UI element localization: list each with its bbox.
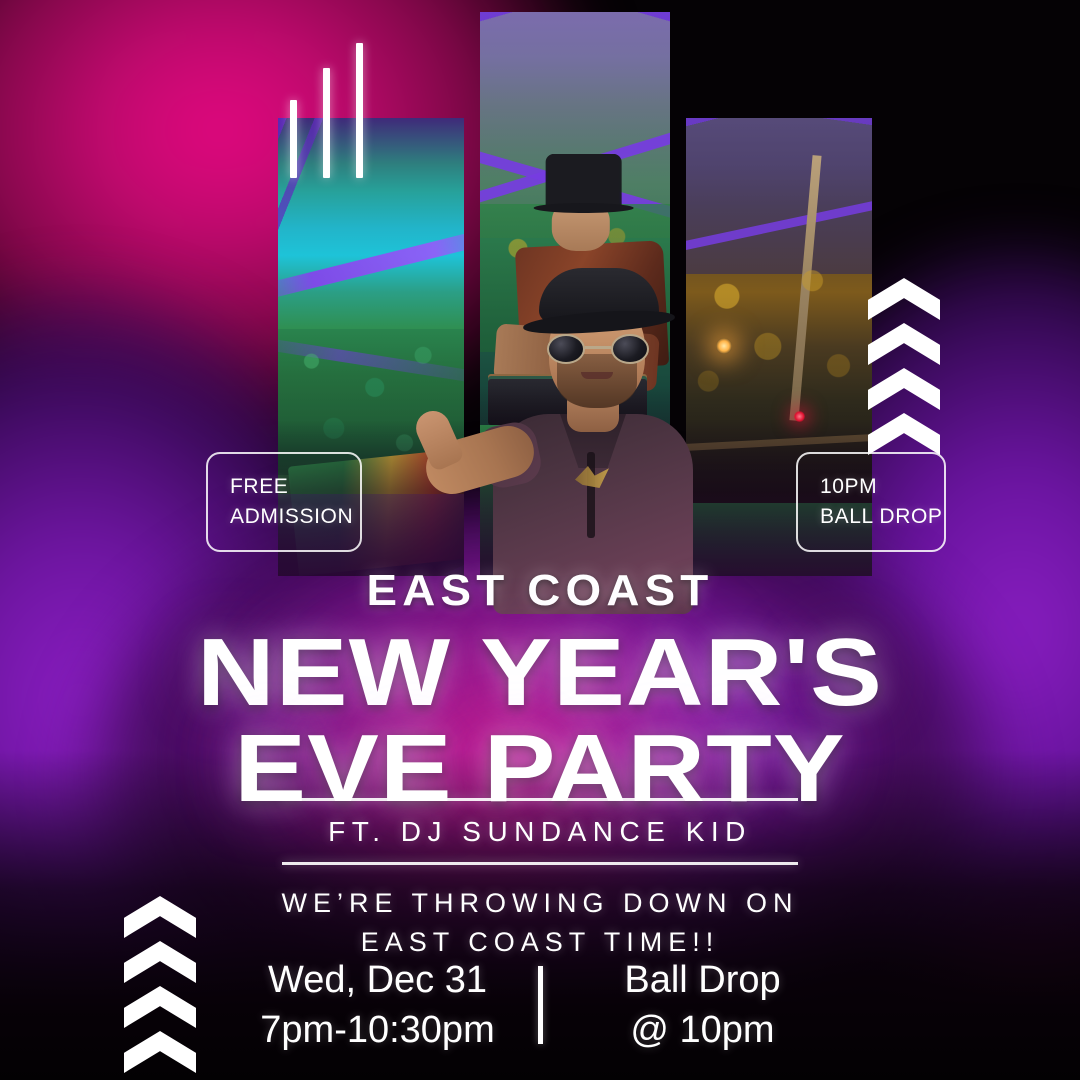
chevron-up-icon — [868, 323, 940, 365]
details-time: 7pm-10:30pm — [228, 1005, 528, 1055]
person-placket — [587, 452, 595, 538]
badge-free-line2: ADMISSION — [230, 502, 338, 532]
sunglass-lens-left — [547, 334, 585, 364]
featuring-artist: FT. DJ SUNDANCE KID — [282, 801, 798, 862]
chevron-up-icon — [868, 278, 940, 320]
tagline-block: WE’RE THROWING DOWN ON EAST COAST TIME!! — [0, 884, 1080, 962]
vertical-bars-decoration — [290, 38, 380, 178]
badge-ball-drop: 10PM BALL DROP — [796, 452, 946, 552]
event-title-line1: NEW YEAR'S — [0, 628, 1080, 718]
featuring-block: FT. DJ SUNDANCE KID — [282, 798, 798, 865]
details-balldrop-label: Ball Drop — [553, 955, 853, 1005]
details-divider — [538, 966, 543, 1044]
badge-ball-line2: BALL DROP — [820, 502, 922, 532]
vertical-bar — [356, 43, 363, 178]
details-balldrop-time: @ 10pm — [553, 1005, 853, 1055]
sunglass-bridge — [585, 346, 611, 349]
details-balldrop-column: Ball Drop @ 10pm — [553, 955, 853, 1055]
badge-ball-line1: 10PM — [820, 472, 922, 502]
vertical-bar — [290, 100, 297, 178]
badge-free-admission: FREE ADMISSION — [206, 452, 362, 552]
rule-top — [282, 798, 798, 801]
vertical-bar — [323, 68, 330, 178]
sunglass-lens-right — [611, 334, 649, 364]
chevron-up-icon — [868, 368, 940, 410]
round-sunglasses-icon — [547, 334, 649, 364]
dj-top-hat — [548, 154, 620, 206]
event-poster: FREE ADMISSION 10PM BALL DROP EAST COAST… — [0, 0, 1080, 1080]
rule-bottom — [282, 862, 798, 865]
details-date-column: Wed, Dec 31 7pm-10:30pm — [228, 955, 528, 1055]
headline-block: EAST COAST NEW YEAR'S EVE PARTY — [0, 566, 1080, 814]
event-kicker: EAST COAST — [0, 566, 1080, 616]
chevron-up-icon — [868, 413, 940, 455]
dj-cutout-portrait — [415, 238, 755, 598]
tagline-line1: WE’RE THROWING DOWN ON — [0, 884, 1080, 923]
event-details-block: Wed, Dec 31 7pm-10:30pm Ball Drop @ 10pm — [0, 955, 1080, 1055]
person-mouth — [581, 372, 613, 379]
chevron-stack-right — [868, 278, 940, 455]
badge-free-line1: FREE — [230, 472, 338, 502]
red-light — [794, 411, 805, 422]
details-date: Wed, Dec 31 — [228, 955, 528, 1005]
